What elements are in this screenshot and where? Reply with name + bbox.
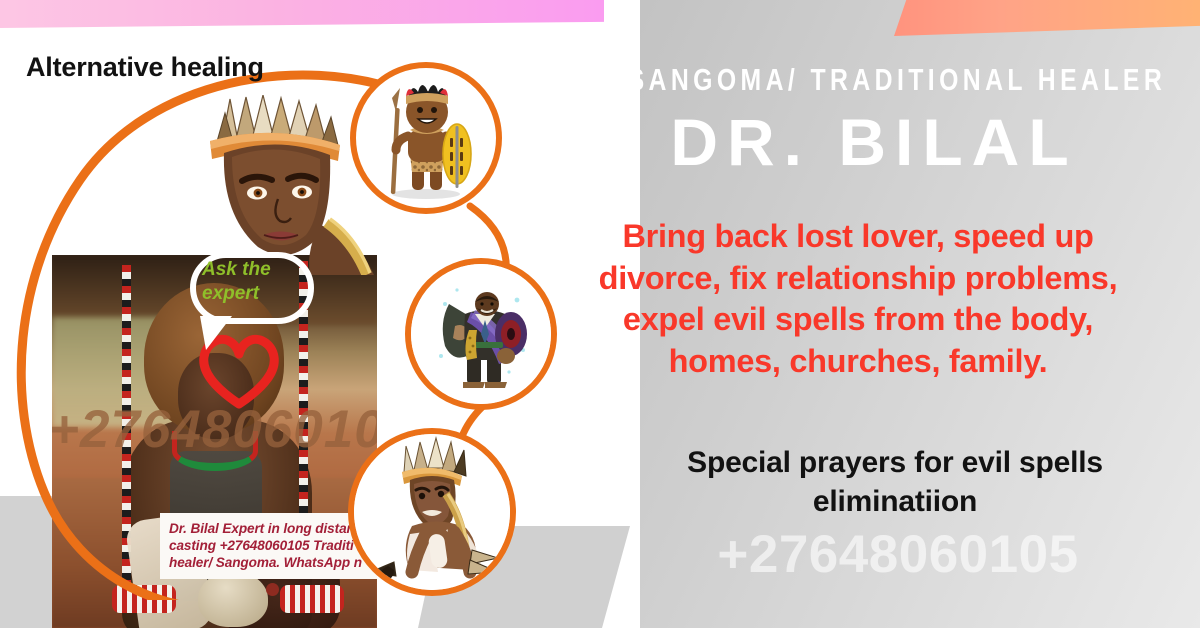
- special-prayers-text: Special prayers for evil spells eliminat…: [600, 443, 1190, 521]
- services-line-2: divorce, fix relationship problems,: [532, 258, 1184, 300]
- services-line-1: Bring back lost lover, speed up: [532, 216, 1184, 258]
- photo-caption-line-2: casting +27648060105 Traditi: [169, 537, 377, 554]
- photo-wrist-cuff-left: [112, 585, 176, 613]
- badge-crouching-sangoma[interactable]: [348, 428, 516, 596]
- flyer-canvas: Alternative healing: [0, 0, 1200, 628]
- photo-caption-box: Dr. Bilal Expert in long distan casting …: [160, 513, 377, 579]
- cloaked-healer-illustration-icon: [411, 264, 551, 404]
- phone-number-watermark: +27648060105: [600, 524, 1196, 585]
- photo-wrist-cuff-right: [280, 585, 344, 613]
- photo-red-bead-a: [266, 583, 279, 596]
- speech-bubble-label: Ask the expert: [202, 258, 314, 306]
- services-line-4: homes, churches, family.: [532, 341, 1184, 383]
- services-text: Bring back lost lover, speed up divorce,…: [532, 216, 1184, 382]
- crouching-sangoma-illustration-icon: [354, 434, 510, 590]
- photo-caption-line-3: healer/ Sangoma. WhatsApp n: [169, 554, 377, 571]
- kicker-heading: SANGOMA/ TRADITIONAL HEALER: [628, 62, 1121, 98]
- doctor-name-title: DR. BILAL: [566, 104, 1182, 180]
- special-line-1: Special prayers for evil spells: [600, 443, 1190, 482]
- zulu-warrior-cartoon-icon: [356, 68, 496, 208]
- services-line-3: expel evil spells from the body,: [532, 299, 1184, 341]
- special-line-2: eliminatiion: [600, 482, 1190, 521]
- photo-pot: [198, 571, 268, 627]
- alternative-healing-heading: Alternative healing: [26, 52, 264, 83]
- badge-zulu-warrior[interactable]: [350, 62, 502, 214]
- speech-bubble-tail: [200, 316, 232, 350]
- photo-caption-line-1: Dr. Bilal Expert in long distan: [169, 520, 377, 537]
